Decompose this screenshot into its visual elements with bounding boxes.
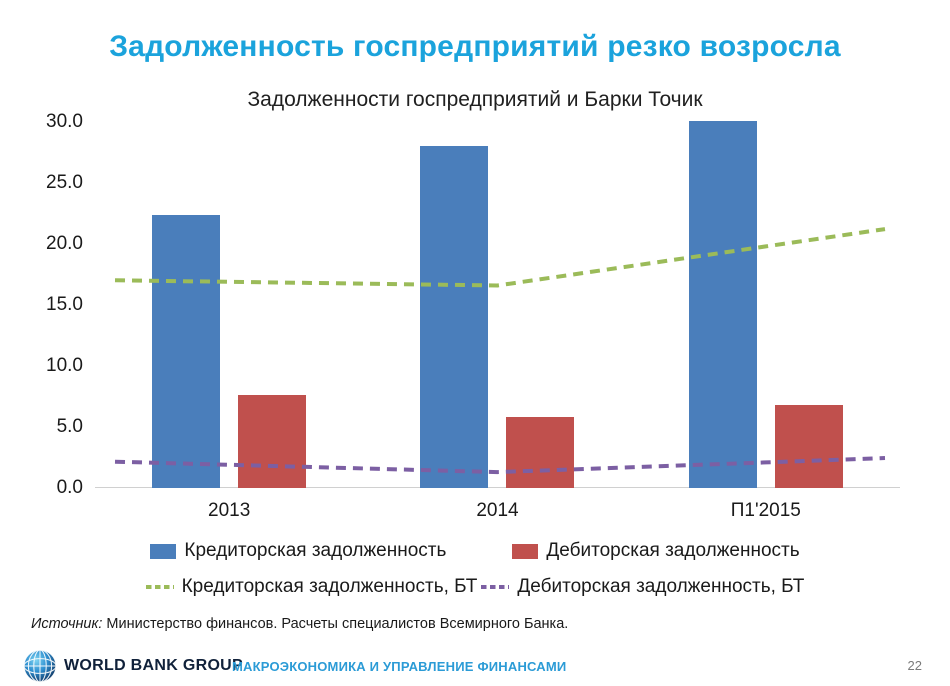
legend-item-kreditorskaya[interactable]: Кредиторская задолженность <box>150 540 446 562</box>
legend-item-kreditorskaya-bt[interactable]: Кредиторская задолженность, БТ <box>146 576 478 598</box>
source-note-lead: Источник: <box>31 616 102 632</box>
legend-row-lines: Кредиторская задолженность, БТ Дебиторск… <box>0 576 950 598</box>
legend-dashline-icon-kreditorskaya-bt <box>146 585 174 589</box>
legend-label-debitorskaya: Дебиторская задолженность <box>546 540 799 562</box>
line-series-layer <box>95 122 900 488</box>
legend-dashline-icon-debitorskaya-bt <box>481 585 509 589</box>
plot-area: 0.05.010.015.020.025.030.0 20132014П1'20… <box>95 122 900 488</box>
globe-icon <box>22 648 58 684</box>
y-tick-label: 25.0 <box>46 172 83 194</box>
source-note: Источник: Министерство финансов. Расчеты… <box>31 616 568 632</box>
chart-title: Задолженности госпредприятий и Барки Точ… <box>0 88 950 112</box>
legend-label-debitorskaya-bt: Дебиторская задолженность, БТ <box>517 576 804 598</box>
page-number: 22 <box>908 658 922 673</box>
x-tick-label: П1'2015 <box>632 500 900 522</box>
y-tick-label: 10.0 <box>46 355 83 377</box>
chart-legend: Кредиторская задолженность Дебиторская з… <box>0 540 950 608</box>
footer-tagline: МАКРОЭКОНОМИКА И УПРАВЛЕНИЕ ФИНАНСАМИ <box>232 659 566 674</box>
slide-footer: WORLD BANK GROUP МАКРОЭКОНОМИКА И УПРАВЛ… <box>0 646 950 686</box>
y-tick-label: 15.0 <box>46 294 83 316</box>
y-tick-label: 30.0 <box>46 111 83 133</box>
line-series <box>115 229 885 285</box>
y-tick-label: 0.0 <box>57 477 83 499</box>
y-tick-label: 5.0 <box>57 416 83 438</box>
x-tick-label: 2013 <box>95 500 363 522</box>
legend-swatch-icon-debitorskaya <box>512 544 538 559</box>
legend-label-kreditorskaya-bt: Кредиторская задолженность, БТ <box>182 576 478 598</box>
bar-chart: 0.05.010.015.020.025.030.0 20132014П1'20… <box>0 110 950 530</box>
x-tick-label: 2014 <box>363 500 631 522</box>
slide-title: Задолженность госпредприятий резко возро… <box>0 30 950 64</box>
legend-item-debitorskaya[interactable]: Дебиторская задолженность <box>512 540 799 562</box>
legend-row-bars: Кредиторская задолженность Дебиторская з… <box>0 540 950 562</box>
line-series <box>115 458 885 472</box>
footer-divider <box>0 642 950 643</box>
source-note-text: Министерство финансов. Расчеты специалис… <box>102 616 568 632</box>
world-bank-wordmark: WORLD BANK GROUP <box>64 657 243 675</box>
y-tick-label: 20.0 <box>46 233 83 255</box>
legend-label-kreditorskaya: Кредиторская задолженность <box>184 540 446 562</box>
legend-swatch-icon-kreditorskaya <box>150 544 176 559</box>
legend-item-debitorskaya-bt[interactable]: Дебиторская задолженность, БТ <box>481 576 804 598</box>
